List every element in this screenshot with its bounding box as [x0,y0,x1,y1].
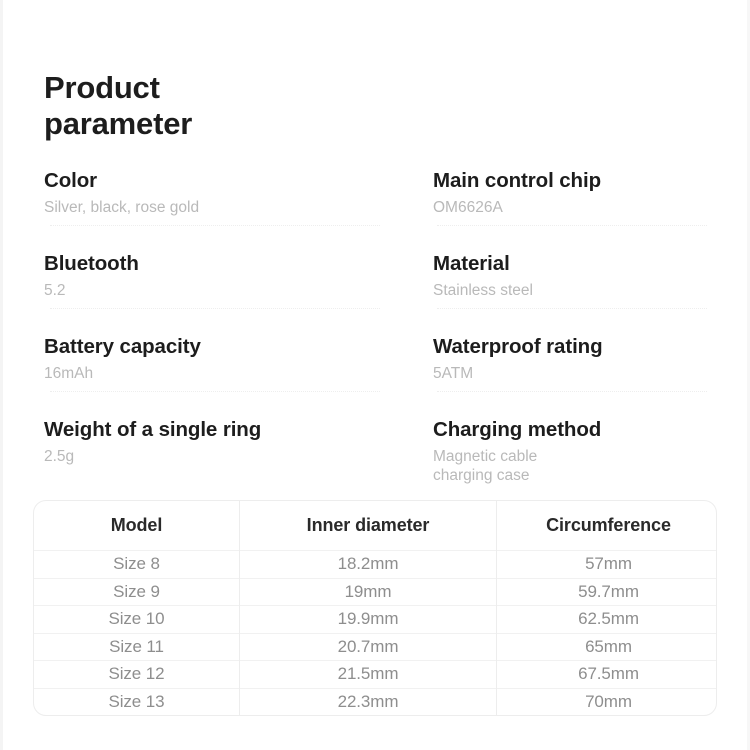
cell-circumference: 57mm [497,551,718,579]
page-title: Product parameter [44,70,464,143]
spec-item-main-control-chip: Main control chip OM6626A [433,168,733,217]
cell-model: Size 9 [34,578,240,606]
cell-inner-diameter: 22.3mm [240,688,497,715]
spec-row: Color Silver, black, rose gold Main cont… [0,168,750,251]
spec-row: Bluetooth 5.2 Material Stainless steel [0,251,750,334]
spec-label: Weight of a single ring [44,417,424,443]
cell-model: Size 11 [34,633,240,661]
spec-label: Material [433,251,733,277]
cell-inner-diameter: 21.5mm [240,661,497,689]
spec-divider [437,391,707,393]
spec-value: 5ATM [433,364,733,384]
product-parameter-page: Product parameter Color Silver, black, r… [0,0,750,750]
spec-item-battery-capacity: Battery capacity 16mAh [44,334,424,383]
cell-model: Size 8 [34,551,240,579]
column-header-model: Model [34,501,240,551]
table-row: Size 12 21.5mm 67.5mm [34,661,717,689]
table-row: Size 11 20.7mm 65mm [34,633,717,661]
spec-row: Battery capacity 16mAh Waterproof rating… [0,334,750,417]
spec-row: Weight of a single ring 2.5g Charging me… [0,417,750,497]
cell-model: Size 12 [34,661,240,689]
spec-value: 2.5g [44,447,424,467]
spec-item-charging-method: Charging method Magnetic cable charging … [433,417,733,486]
spec-value: OM6626A [433,198,733,218]
spec-value: 16mAh [44,364,424,384]
cell-inner-diameter: 20.7mm [240,633,497,661]
spec-value: Stainless steel [433,281,733,301]
spec-divider [437,308,707,310]
size-chart-table: Model Inner diameter Circumference Size … [33,500,717,716]
spec-label: Battery capacity [44,334,424,360]
spec-item-weight-of-a-single-ring: Weight of a single ring 2.5g [44,417,424,466]
cell-circumference: 62.5mm [497,606,718,634]
cell-model: Size 10 [34,606,240,634]
table-row: Size 10 19.9mm 62.5mm [34,606,717,634]
table-row: Size 13 22.3mm 70mm [34,688,717,715]
spec-divider [437,225,707,227]
spec-label: Color [44,168,424,194]
spec-label: Main control chip [433,168,733,194]
table-row: Size 8 18.2mm 57mm [34,551,717,579]
spec-list: Color Silver, black, rose gold Main cont… [0,168,750,497]
spec-label: Charging method [433,417,733,443]
spec-item-waterproof-rating: Waterproof rating 5ATM [433,334,733,383]
spec-item-material: Material Stainless steel [433,251,733,300]
cell-inner-diameter: 19mm [240,578,497,606]
spec-divider [50,225,380,227]
cell-circumference: 59.7mm [497,578,718,606]
cell-inner-diameter: 19.9mm [240,606,497,634]
spec-label: Waterproof rating [433,334,733,360]
cell-inner-diameter: 18.2mm [240,551,497,579]
spec-value: 5.2 [44,281,424,301]
spec-divider [50,391,380,393]
spec-item-bluetooth: Bluetooth 5.2 [44,251,424,300]
spec-value: Silver, black, rose gold [44,198,424,218]
table-row: Size 9 19mm 59.7mm [34,578,717,606]
spec-value: Magnetic cable charging case [433,447,733,487]
column-header-circumference: Circumference [497,501,718,551]
cell-circumference: 67.5mm [497,661,718,689]
cell-circumference: 70mm [497,688,718,715]
spec-label: Bluetooth [44,251,424,277]
cell-circumference: 65mm [497,633,718,661]
spec-item-color: Color Silver, black, rose gold [44,168,424,217]
spec-divider [50,308,380,310]
cell-model: Size 13 [34,688,240,715]
column-header-inner-diameter: Inner diameter [240,501,497,551]
table-header-row: Model Inner diameter Circumference [34,501,717,551]
